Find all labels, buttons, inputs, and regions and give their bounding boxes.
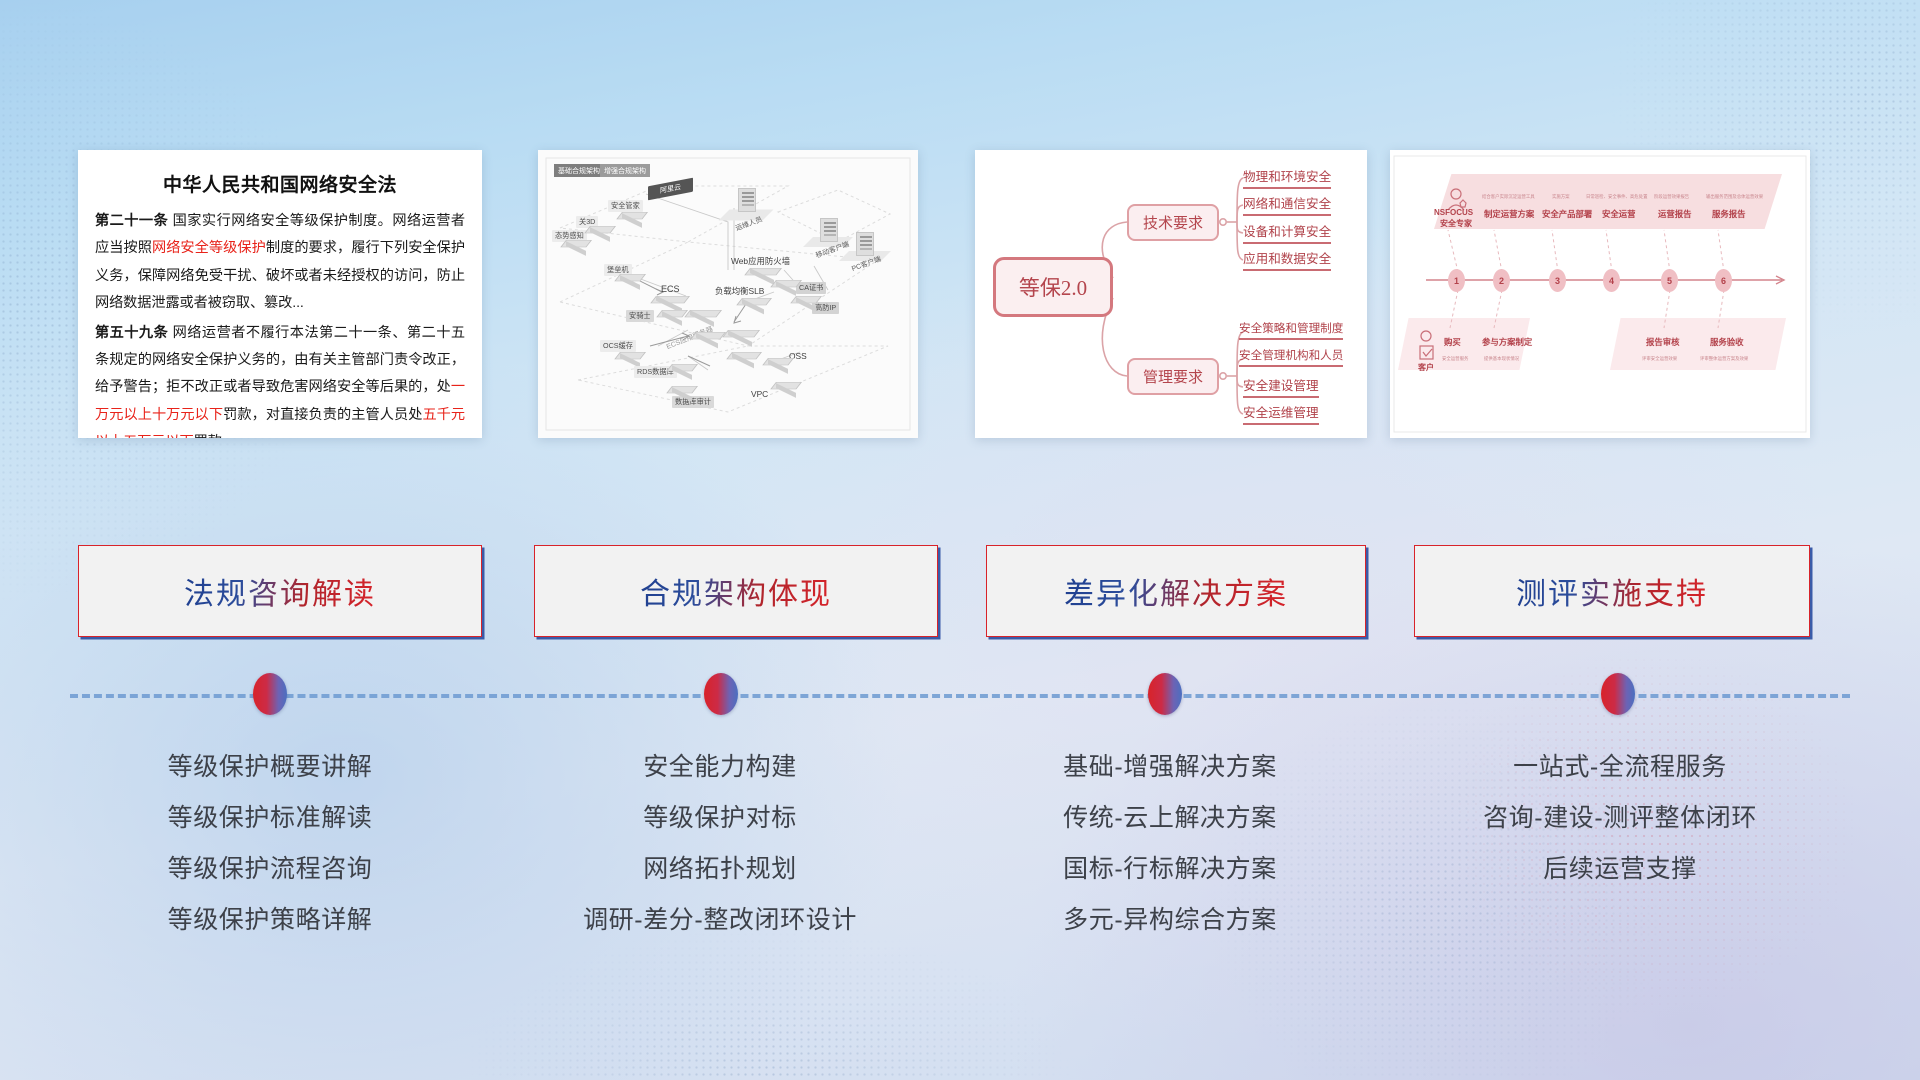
- mindmap-leaf-application: 应用和数据安全: [1243, 248, 1331, 271]
- timeline-dashed-line: [70, 694, 1850, 698]
- arch-label-waf: Web应用防火墙: [728, 254, 793, 268]
- process-number-1: 1: [1448, 269, 1465, 292]
- process-number-6: 6: [1715, 269, 1732, 292]
- mindmap-leaf-org: 安全管理机构和人员: [1239, 347, 1343, 367]
- timeline-dot-4[interactable]: [1601, 673, 1635, 715]
- process-number-2: 2: [1493, 269, 1510, 292]
- process-top-sub-4: 日常巡检、安全事件、高危处置: [1586, 194, 1647, 200]
- arch-node-db-audit: [672, 386, 698, 403]
- list-item: 多元-异构综合方案: [970, 895, 1370, 946]
- title-box-evaluation-support[interactable]: 测评实施支持: [1414, 545, 1810, 637]
- process-bottom-sub-6: 评审整体运营方案及效果: [1700, 356, 1748, 362]
- article-59-label: 第五十九条: [95, 325, 168, 341]
- article-21-highlight: 网络安全等级保护: [152, 240, 266, 256]
- process-bottom-title-6: 服务验收: [1710, 336, 1744, 348]
- list-item: 后续运营支撑: [1420, 844, 1820, 895]
- process-top-sub-2: 结合客户实际沉淀运营工具: [1482, 194, 1535, 200]
- timeline: [0, 660, 1920, 740]
- arch-label-vpc: VPC: [748, 388, 771, 400]
- arch-server-ops: [738, 188, 756, 212]
- detail-column-1: 等级保护概要讲解 等级保护标准解读 等级保护流程咨询 等级保护策略详解: [70, 742, 470, 946]
- arch-label-ecs: ECS: [658, 283, 683, 295]
- title-label-3: 差异化解决方案: [1064, 569, 1288, 613]
- mindmap-leaf-physical: 物理和环境安全: [1243, 166, 1331, 189]
- arch-server-mobile: [820, 218, 838, 242]
- arch-tab-enhanced[interactable]: 增强合规架构: [600, 164, 650, 177]
- mindmap-leaf-policy: 安全策略和管理制度: [1239, 320, 1343, 340]
- mindmap-leaf-device: 设备和计算安全: [1243, 221, 1331, 244]
- process-brand-sub: 安全专家: [1440, 218, 1472, 229]
- list-item: 等级保护概要讲解: [70, 742, 470, 793]
- mindmap-branch-technical: 技术要求: [1127, 204, 1219, 241]
- list-item: 咨询-建设-测评整体闭环: [1420, 793, 1820, 844]
- detail-column-3: 基础-增强解决方案 传统-云上解决方案 国标-行标解决方案 多元-异构综合方案: [970, 742, 1370, 946]
- list-item: 传统-云上解决方案: [970, 793, 1370, 844]
- law-title: 中华人民共和国网络安全法: [95, 170, 465, 197]
- arch-node-ca: [776, 280, 802, 297]
- arch-node-oss: [768, 358, 794, 375]
- mindmap-leaf-network: 网络和通信安全: [1243, 193, 1331, 216]
- arch-node-vpc: [776, 382, 802, 399]
- detail-column-4: 一站式-全流程服务 咨询-建设-测评整体闭环 后续运营支撑: [1420, 742, 1820, 895]
- arch-node-anqishi: [662, 310, 688, 327]
- article-21-label: 第二十一条: [95, 213, 168, 229]
- process-top-sub-5: 阶段运营效果报告: [1654, 194, 1689, 200]
- arch-node-slb: [742, 298, 772, 315]
- arch-node-security-butler: [622, 212, 648, 229]
- law-article-21: 第二十一条 国家实行网络安全等级保护制度。网络运营者应当按照网络安全等级保护制度…: [95, 208, 465, 318]
- timeline-dot-2[interactable]: [704, 673, 738, 715]
- process-bottom-sub-1: 安全运营服务: [1442, 356, 1468, 362]
- architecture-diagram: 基础合规架构 增强合规架构 阿里云 态势感知 关3D 安全管家 堡垒机 ECS …: [538, 150, 918, 438]
- article-59-post: 罚款。: [194, 434, 236, 438]
- title-label-4: 测评实施支持: [1516, 569, 1708, 613]
- arch-tab-basic[interactable]: 基础合规架构: [554, 164, 604, 177]
- process-brand: NSFOCUS: [1434, 208, 1473, 217]
- mindmap-root: 等保2.0: [993, 257, 1113, 317]
- process-number-5: 5: [1661, 269, 1678, 292]
- arch-node-rds: [672, 364, 698, 381]
- arch-label-security-butler: 安全管家: [608, 200, 643, 212]
- process-bottom-sub-5: 评审安全运营效果: [1642, 356, 1677, 362]
- detail-lists-row: 等级保护概要讲解 等级保护标准解读 等级保护流程咨询 等级保护策略详解 安全能力…: [0, 742, 1920, 972]
- list-item: 国标-行标解决方案: [970, 844, 1370, 895]
- process-number-4: 4: [1603, 269, 1620, 292]
- arch-node-ecs-5: [732, 352, 762, 369]
- card-mindmap-dengbao[interactable]: 等保2.0 技术要求 管理要求 物理和环境安全 网络和通信安全 设备和计算安全 …: [975, 150, 1367, 438]
- timeline-dot-1[interactable]: [253, 673, 287, 715]
- list-item: 等级保护流程咨询: [70, 844, 470, 895]
- arch-label-ocs-cache: OCS缓存: [600, 340, 636, 352]
- process-bottom-title-1: 购买: [1444, 336, 1461, 348]
- arch-label-anqishi: 安骑士: [626, 310, 654, 322]
- list-item: 等级保护标准解读: [70, 793, 470, 844]
- title-label-2: 合规架构体现: [640, 569, 832, 613]
- arch-label-slb: 负载均衡SLB: [712, 284, 767, 298]
- process-top-title-4: 安全运营: [1602, 208, 1636, 220]
- process-bottom-title-5: 报告审核: [1646, 336, 1680, 348]
- title-label-1: 法规咨询解读: [184, 569, 376, 613]
- card-cloud-architecture[interactable]: 基础合规架构 增强合规架构 阿里云 态势感知 关3D 安全管家 堡垒机 ECS …: [538, 150, 918, 438]
- arch-node-situational-awareness: [566, 240, 592, 257]
- cards-row: 中华人民共和国网络安全法 第二十一条 国家实行网络安全等级保护制度。网络运营者应…: [0, 0, 1920, 470]
- arch-node-guan3d: [590, 226, 616, 243]
- process-bottom-sub-2: 提供基本现状情况: [1484, 356, 1519, 362]
- title-box-regulation-consulting[interactable]: 法规咨询解读: [78, 545, 482, 637]
- mindmap-branch-management: 管理要求: [1127, 358, 1219, 395]
- list-item: 调研-差分-整改闭环设计: [520, 895, 920, 946]
- list-item: 安全能力构建: [520, 742, 920, 793]
- arch-node-ecs-3: [696, 332, 726, 349]
- list-item: 基础-增强解决方案: [970, 742, 1370, 793]
- mindmap-leaf-construction: 安全建设管理: [1243, 375, 1319, 398]
- timeline-dot-3[interactable]: [1148, 673, 1182, 715]
- process-top-sub-6: 输出服务范围及总体运营效果: [1706, 194, 1763, 200]
- process-number-3: 3: [1549, 269, 1566, 292]
- title-box-differentiated-solution[interactable]: 差异化解决方案: [986, 545, 1366, 637]
- arch-node-bastion: [620, 274, 646, 291]
- arch-node-ecs-4: [728, 330, 760, 347]
- process-bottom-title-2: 参与方案制定: [1482, 336, 1532, 348]
- process-diagram: NSFOCUS 安全专家 客户 结合客户实际沉淀运营工具 制定运营方案 实施方案…: [1390, 150, 1810, 438]
- article-59-mid: 罚款，对直接负责的主管人员处: [223, 407, 422, 423]
- process-customer-label: 客户: [1418, 362, 1434, 373]
- mindmap-leaf-maintenance: 安全运维管理: [1243, 402, 1319, 425]
- title-boxes-row: 法规咨询解读 合规架构体现 差异化解决方案 测评实施支持: [0, 545, 1920, 645]
- process-top-sub-3: 实施方案: [1552, 194, 1570, 200]
- list-item: 等级保护策略详解: [70, 895, 470, 946]
- title-box-compliance-architecture[interactable]: 合规架构体现: [534, 545, 938, 637]
- arch-server-pc: [856, 232, 874, 256]
- detail-column-2: 安全能力构建 等级保护对标 网络拓扑规划 调研-差分-整改闭环设计: [520, 742, 920, 946]
- law-article-59: 第五十九条 网络运营者不履行本法第二十一条、第二十五条规定的网络安全保护义务的，…: [95, 320, 465, 438]
- arch-node-ecs-2: [690, 310, 722, 327]
- card-nsfocus-process[interactable]: NSFOCUS 安全专家 客户 结合客户实际沉淀运营工具 制定运营方案 实施方案…: [1390, 150, 1810, 438]
- process-top-title-5: 运营报告: [1658, 208, 1692, 220]
- list-item: 等级保护对标: [520, 793, 920, 844]
- arch-node-anti-ddos-ip: [796, 296, 822, 313]
- list-item: 一站式-全流程服务: [1420, 742, 1820, 793]
- process-top-title-2: 制定运营方案: [1484, 208, 1534, 220]
- process-top-title-3: 安全产品部署: [1542, 208, 1592, 220]
- mindmap: 等保2.0 技术要求 管理要求 物理和环境安全 网络和通信安全 设备和计算安全 …: [975, 150, 1367, 438]
- card-cybersecurity-law[interactable]: 中华人民共和国网络安全法 第二十一条 国家实行网络安全等级保护制度。网络运营者应…: [78, 150, 482, 438]
- process-top-title-6: 服务报告: [1712, 208, 1746, 220]
- list-item: 网络拓扑规划: [520, 844, 920, 895]
